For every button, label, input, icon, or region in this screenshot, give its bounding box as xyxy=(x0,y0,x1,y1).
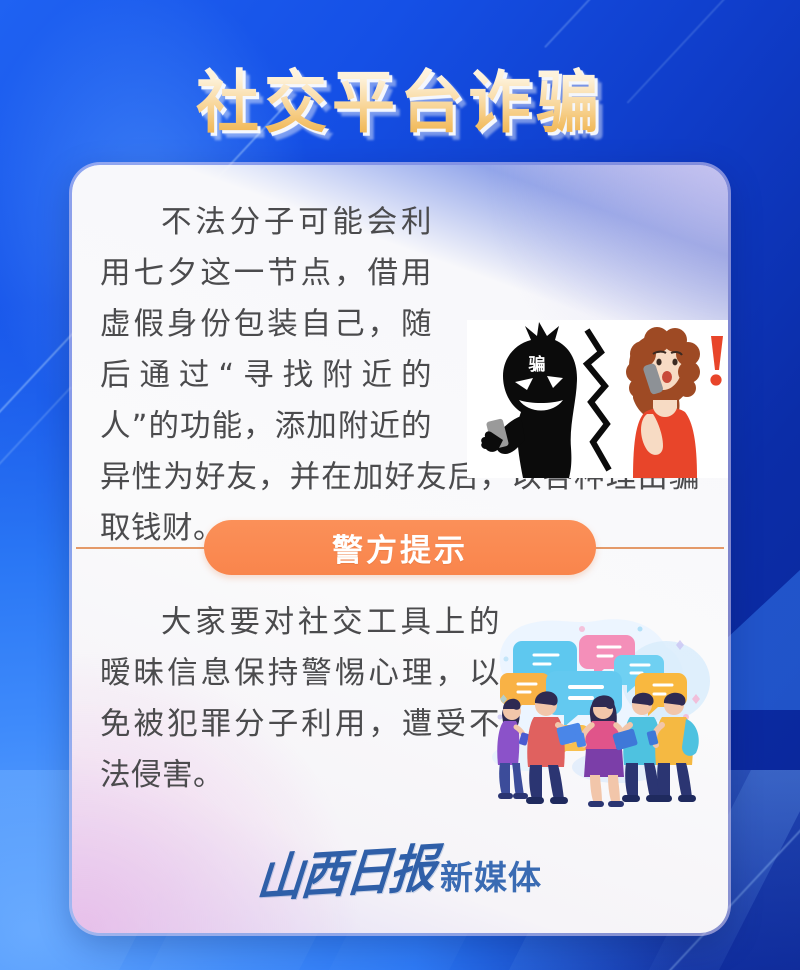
poster-root: 社交平台诈骗 不法分子可能会利用七夕这一节点，借用虚假身份包装自己，随后通过“寻… xyxy=(0,0,800,970)
content-card: 不法分子可能会利用七夕这一节点，借用虚假身份包装自己，随后通过“寻找附近的人”的… xyxy=(72,165,728,933)
police-tip-label: 警方提示 xyxy=(332,525,468,570)
logo-sub-text: 新媒体 xyxy=(440,851,542,903)
publisher-logo: 山西日报 新媒体 xyxy=(72,837,728,903)
police-tip-badge: 警方提示 xyxy=(204,520,596,575)
silhouette-label: 骗 xyxy=(529,354,546,375)
poster-title: 社交平台诈骗 xyxy=(196,48,604,146)
scam-phone-call-illustration: 骗 xyxy=(467,320,728,478)
logo-script-text: 山西日报 xyxy=(254,828,439,913)
paragraph-police-advice: 大家要对社交工具上的暧昧信息保持警惕心理，以免被犯罪分子利用，遭受不法侵害。 xyxy=(100,597,500,801)
social-chat-illustration xyxy=(470,607,720,807)
title-area: 社交平台诈骗 xyxy=(0,52,800,143)
